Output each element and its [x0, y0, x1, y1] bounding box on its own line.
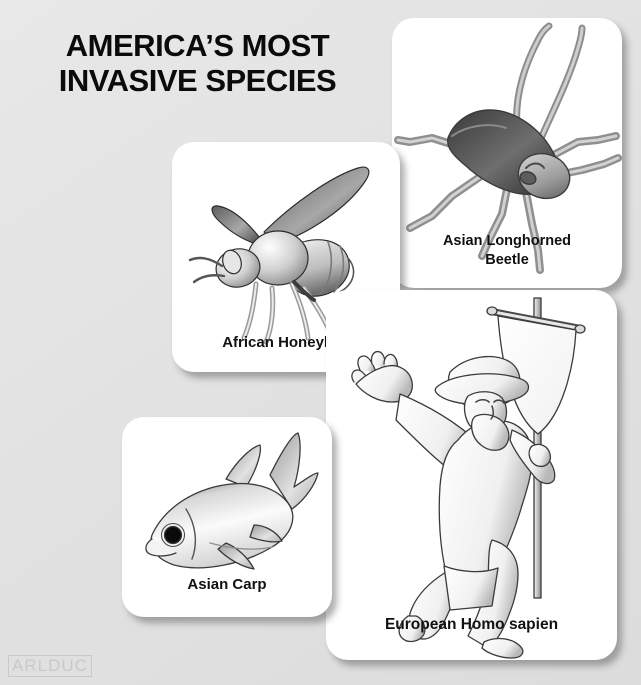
european-homo-sapien-illustration — [326, 290, 617, 660]
poster-canvas: AMERICA’S MOST INVASIVE SPECIES — [0, 0, 641, 685]
card-caption-carp: Asian Carp — [122, 575, 332, 594]
card-asian-longhorned-beetle[interactable]: Asian Longhorned Beetle — [392, 18, 622, 288]
artist-signature: ARLDUC — [8, 655, 92, 677]
card-caption-human: European Homo sapien — [326, 615, 617, 634]
card-caption-beetle: Asian Longhorned Beetle — [392, 232, 622, 270]
page-title: AMERICA’S MOST INVASIVE SPECIES — [20, 28, 375, 98]
card-european-homo-sapien[interactable]: European Homo sapien — [326, 290, 617, 660]
card-asian-carp[interactable]: Asian Carp — [122, 417, 332, 617]
